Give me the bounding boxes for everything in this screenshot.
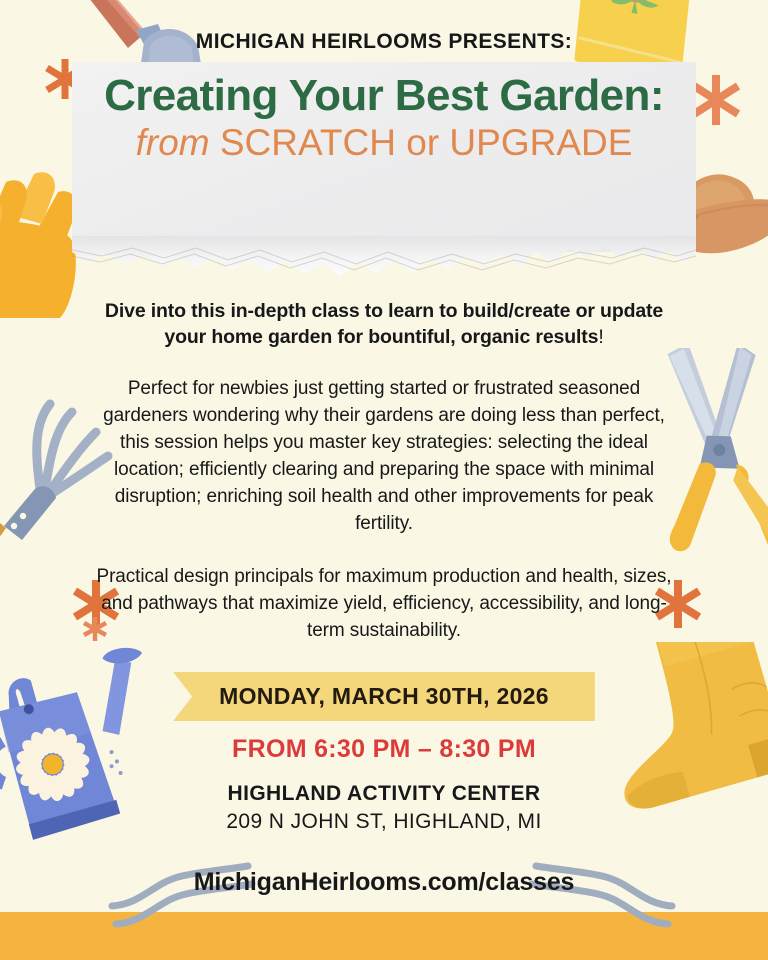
body-paragraph-1: Perfect for newbies just getting started…: [94, 376, 674, 538]
lede-paragraph: Dive into this in-depth class to learn t…: [94, 298, 674, 350]
subtitle-italic-word: from: [136, 122, 210, 163]
torn-paper-edge: [72, 236, 696, 282]
event-date: MONDAY, MARCH 30TH, 2026: [173, 672, 595, 721]
page-title: Creating Your Best Garden:: [0, 72, 768, 120]
page-subtitle: from SCRATCH or UPGRADE: [0, 122, 768, 163]
date-ribbon: MONDAY, MARCH 30TH, 2026: [173, 672, 595, 721]
subtitle-rest: SCRATCH or UPGRADE: [210, 122, 633, 163]
lede-text: Dive into this in-depth class to learn t…: [105, 300, 663, 348]
registration-url[interactable]: MichiganHeirlooms.com/classes: [0, 868, 768, 897]
poster-canvas: MICHIGAN HEIRLOOMS PRESENTS: Creating Yo…: [0, 0, 768, 960]
event-address: 209 N JOHN ST, HIGHLAND, MI: [0, 810, 768, 834]
event-time: FROM 6:30 PM – 8:30 PM: [0, 735, 768, 764]
presenter-line: MICHIGAN HEIRLOOMS PRESENTS:: [0, 30, 768, 54]
event-details-block: MONDAY, MARCH 30TH, 2026 FROM 6:30 PM – …: [0, 672, 768, 897]
headline-block: Creating Your Best Garden: from SCRATCH …: [0, 72, 768, 163]
event-venue: HIGHLAND ACTIVITY CENTER: [0, 782, 768, 806]
bottom-color-band: [0, 912, 768, 960]
lede-exclamation: !: [598, 326, 603, 348]
body-copy-block: Dive into this in-depth class to learn t…: [94, 298, 674, 645]
body-paragraph-2: Practical design principals for maximum …: [94, 564, 674, 645]
